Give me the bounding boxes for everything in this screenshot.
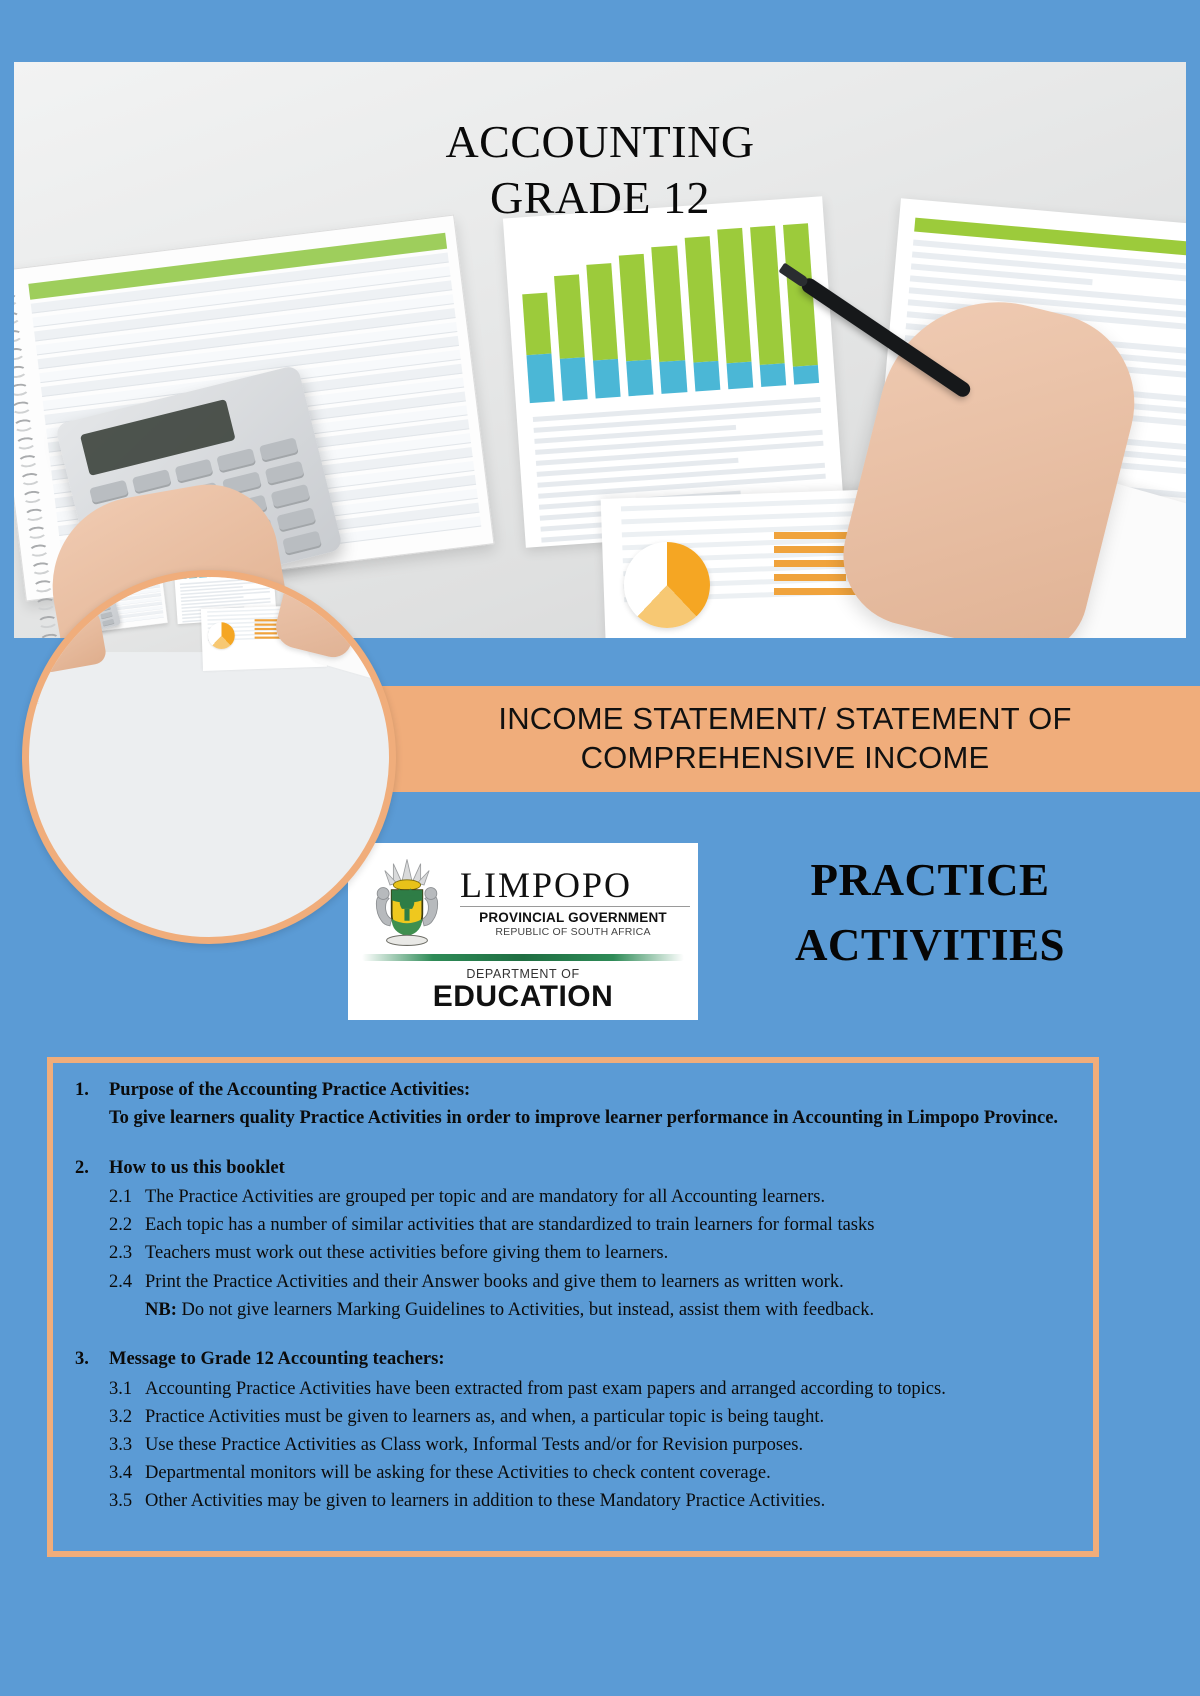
nb-text: Do not give learners Marking Guidelines … [177,1300,874,1320]
item-text: Print the Practice Activities and their … [145,1268,1073,1296]
instruction-section-3: 3. Message to Grade 12 Accounting teache… [75,1346,1073,1515]
spacer-2 [75,1330,1073,1346]
list-item: 3.5 Other Activities may be given to lea… [109,1487,1073,1515]
item-number: 3.1 [109,1375,145,1403]
section-1-body: To give learners quality Practice Activi… [75,1105,1073,1133]
practice-line-2: ACTIVITIES [720,913,1140,978]
section-3-number: 3. [75,1346,109,1374]
instructions-box: 1. Purpose of the Accounting Practice Ac… [47,1057,1099,1557]
item-number: 3.2 [109,1403,145,1431]
section-1-number: 1. [75,1077,109,1105]
item-number: 3.3 [109,1431,145,1459]
title-line-accounting: ACCOUNTING [14,114,1186,170]
limpopo-education-logo: LIMPOPO PROVINCIAL GOVERNMENT REPUBLIC O… [348,843,698,1020]
section-2-heading-row: 2. How to us this booklet [75,1155,1073,1183]
list-item: 2.1 The Practice Activities are grouped … [109,1183,1073,1211]
list-item: 2.3 Teachers must work out these activit… [109,1239,1073,1267]
item-text: Practice Activities must be given to lea… [145,1403,1073,1431]
logo-top-row: LIMPOPO PROVINCIAL GOVERNMENT REPUBLIC O… [348,843,698,952]
item-text: Teachers must work out these activities … [145,1239,1073,1267]
section-1-heading: Purpose of the Accounting Practice Activ… [109,1077,470,1105]
logo-limpopo-text: LIMPOPO [456,867,690,903]
instruction-section-2: 2. How to us this booklet 2.1 The Practi… [75,1155,1073,1324]
logo-divider [460,906,690,907]
item-number: 2.3 [109,1239,145,1267]
banner-line-2: COMPREHENSIVE INCOME [498,739,1071,778]
item-text: Accounting Practice Activities have been… [145,1375,1073,1403]
item-number: 2.2 [109,1211,145,1239]
logo-education-text: EDUCATION [348,981,698,1013]
item-number: 2.4 [109,1268,145,1296]
logo-provincial-government-text: PROVINCIAL GOVERNMENT [456,910,690,925]
circular-photo-inset [22,570,396,944]
list-item: 2.4 Print the Practice Activities and th… [109,1268,1073,1296]
list-item: 3.3 Use these Practice Activities as Cla… [109,1431,1073,1459]
section-2-items: 2.1 The Practice Activities are grouped … [75,1183,1073,1324]
item-text: Departmental monitors will be asking for… [145,1459,1073,1487]
list-item: 3.2 Practice Activities must be given to… [109,1403,1073,1431]
bar-chart [519,223,819,403]
section-3-items: 3.1 Accounting Practice Activities have … [75,1375,1073,1516]
pie-chart [624,542,710,628]
section-2-number: 2. [75,1155,109,1183]
list-item: 3.1 Accounting Practice Activities have … [109,1375,1073,1403]
instruction-section-1: 1. Purpose of the Accounting Practice Ac… [75,1077,1073,1133]
cover-page: ACCOUNTING GRADE 12 INCOME [0,0,1200,1696]
inset-content [22,570,396,944]
item-number: 3.4 [109,1459,145,1487]
subject-banner: INCOME STATEMENT/ STATEMENT OF COMPREHEN… [370,686,1200,792]
page-title: ACCOUNTING GRADE 12 [14,114,1186,226]
item-text: Each topic has a number of similar activ… [145,1211,1073,1239]
item-text: Other Activities may be given to learner… [145,1487,1073,1515]
practice-activities-heading: PRACTICE ACTIVITIES [720,848,1140,979]
item-number: 3.5 [109,1487,145,1515]
item-number: 2.1 [109,1183,145,1211]
section-3-heading-row: 3. Message to Grade 12 Accounting teache… [75,1346,1073,1374]
banner-text: INCOME STATEMENT/ STATEMENT OF COMPREHEN… [498,700,1071,778]
nb-label: NB: [145,1300,177,1320]
inset-scaled-photo [22,570,382,706]
spacer-1 [75,1139,1073,1155]
hero-photo: ACCOUNTING GRADE 12 [14,62,1186,638]
logo-department-label: DEPARTMENT OF [348,967,698,981]
logo-republic-text: REPUBLIC OF SOUTH AFRICA [456,926,690,938]
item-text: Use these Practice Activities as Class w… [145,1431,1073,1459]
section-2-heading: How to us this booklet [109,1155,285,1183]
title-line-grade: GRADE 12 [14,170,1186,226]
logo-wordmark: LIMPOPO PROVINCIAL GOVERNMENT REPUBLIC O… [450,867,690,938]
practice-line-1: PRACTICE [720,848,1140,913]
section-2-nb-line: NB: Do not give learners Marking Guideli… [109,1296,1073,1324]
list-item: 2.2 Each topic has a number of similar a… [109,1211,1073,1239]
banner-line-1: INCOME STATEMENT/ STATEMENT OF [498,700,1071,739]
section-3-heading: Message to Grade 12 Accounting teachers: [109,1346,445,1374]
logo-green-band [362,954,684,961]
item-text: The Practice Activities are grouped per … [145,1183,1073,1211]
section-1-heading-row: 1. Purpose of the Accounting Practice Ac… [75,1077,1073,1105]
instructions-content: 1. Purpose of the Accounting Practice Ac… [53,1063,1093,1531]
list-item: 3.4 Departmental monitors will be asking… [109,1459,1073,1487]
